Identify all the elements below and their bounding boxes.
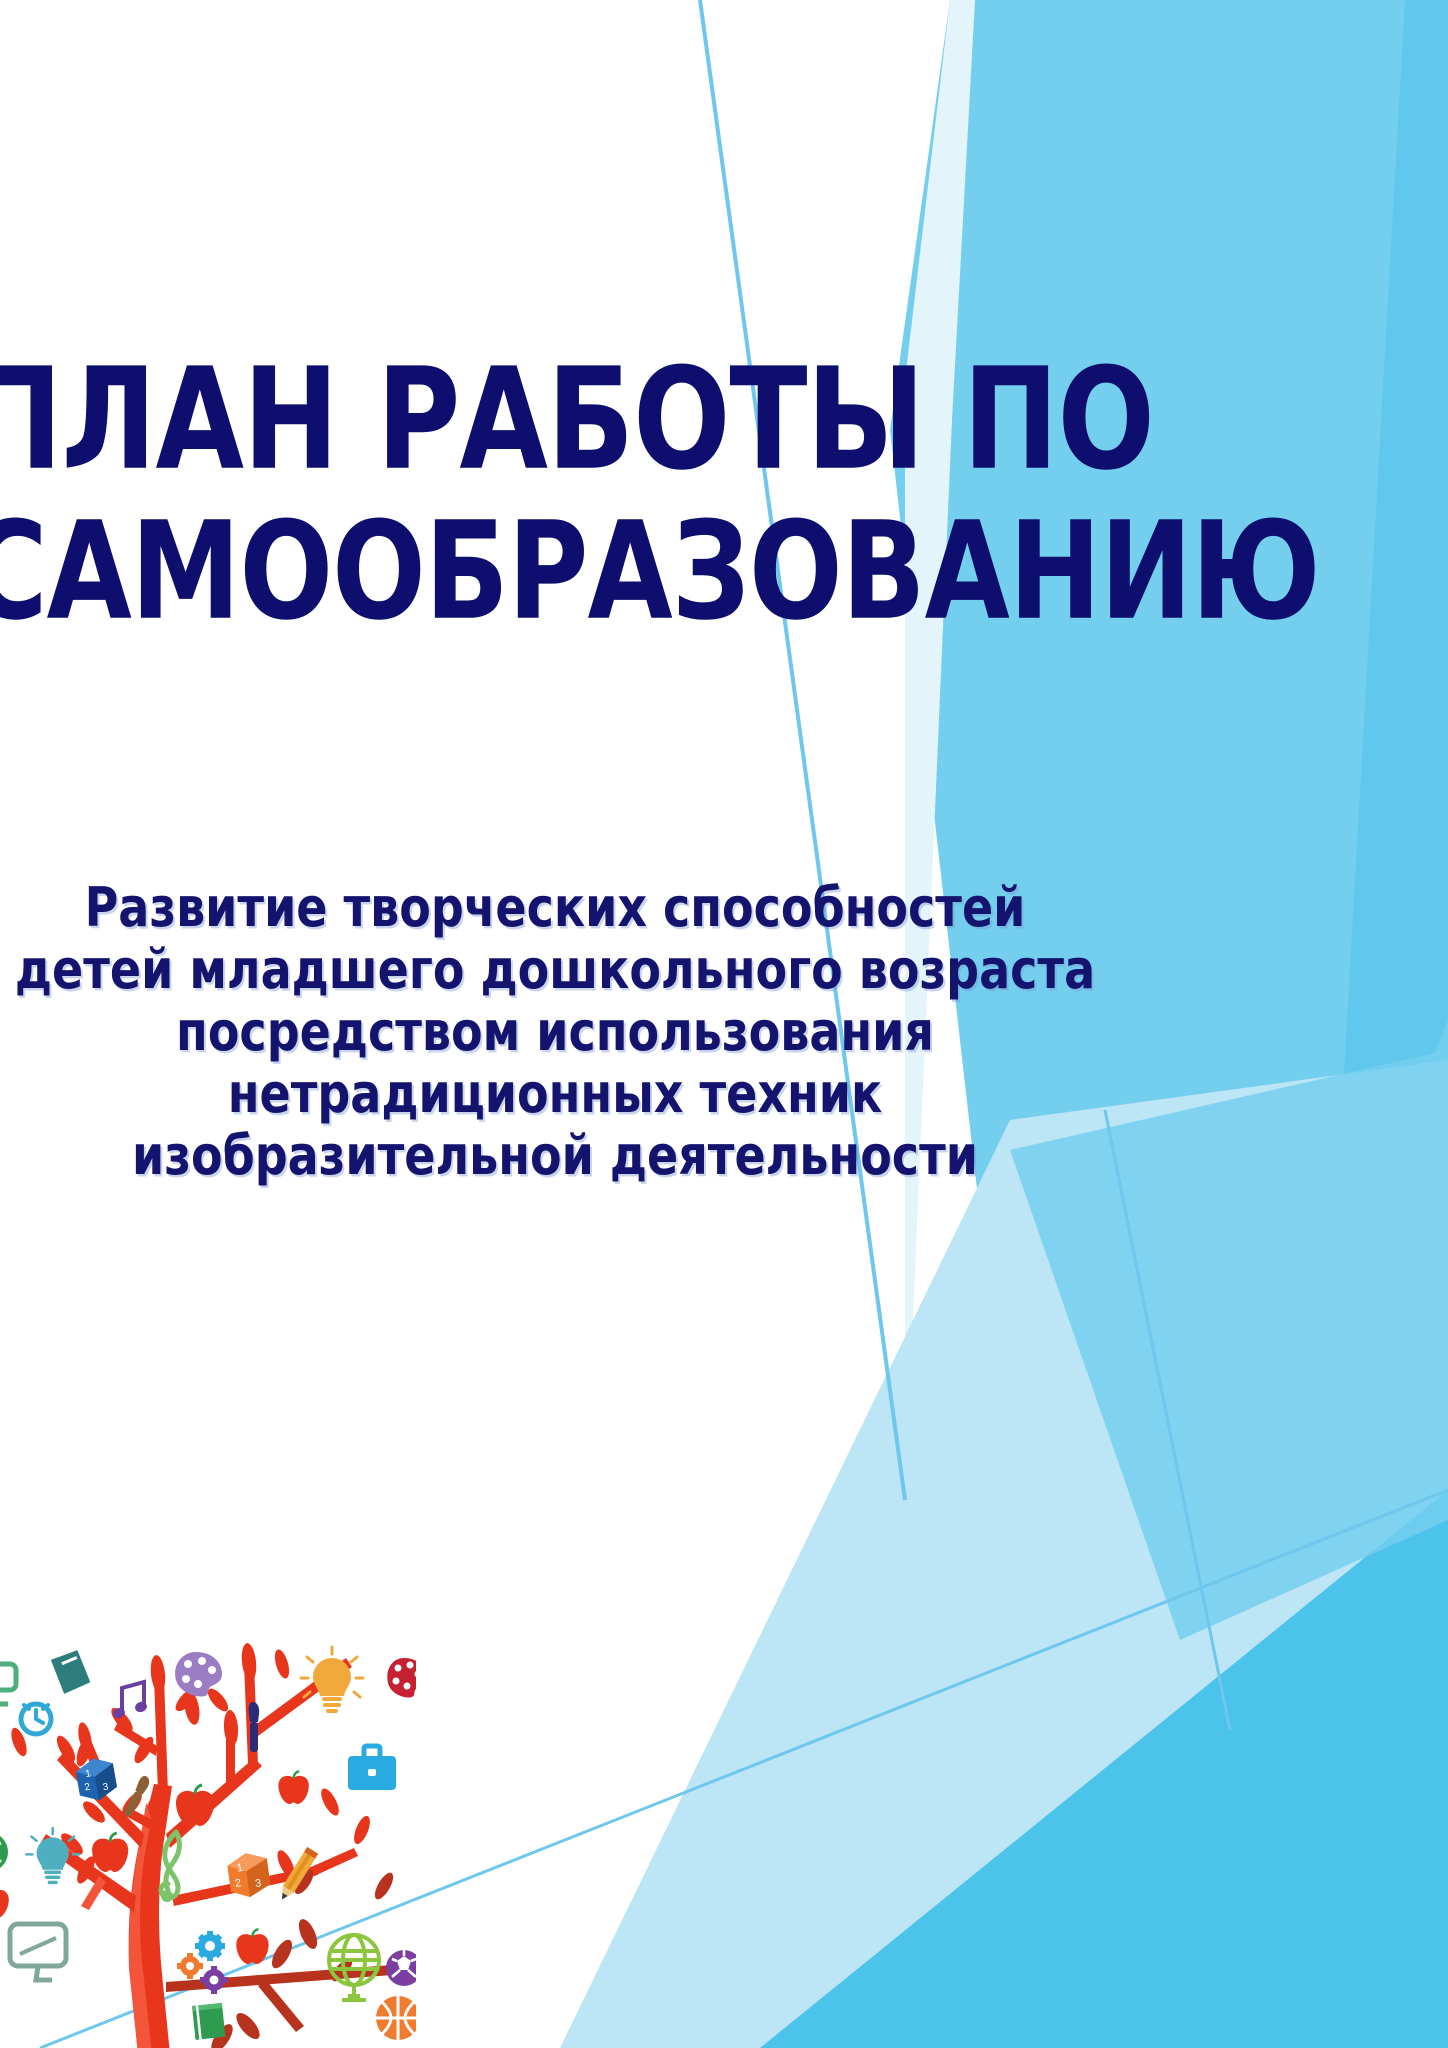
globe-icon xyxy=(329,1935,379,2000)
leaf xyxy=(268,1937,296,1972)
gear-blue xyxy=(195,1931,225,1961)
leaf xyxy=(295,1917,321,1952)
apple-icon xyxy=(236,1929,268,1964)
apple-icon xyxy=(176,1785,214,1826)
soccer-ball-icon xyxy=(386,1950,416,1986)
lightbulb-orange-icon xyxy=(301,1647,363,1713)
leaf xyxy=(272,1648,292,1680)
subtitle-line-3: посредством использования xyxy=(0,1004,1110,1058)
book-icon xyxy=(50,1649,92,1695)
apple-icon xyxy=(0,1885,9,1918)
paint-palette-red-icon xyxy=(387,1658,416,1697)
basketball-icon xyxy=(376,1996,416,2040)
apple-icon xyxy=(92,1833,128,1872)
leaf xyxy=(232,2009,263,2043)
gear-orange xyxy=(177,1953,203,1979)
subtitle-line-1: Развитие творческих способностей xyxy=(0,880,1110,934)
page-title: ПЛАН РАБОТЫ ПО САМООБРАЗОВАНИЮ xyxy=(0,352,1110,608)
thin-diagonal-line-3 xyxy=(1105,1110,1230,1730)
document-page: ПЛАН РАБОТЫ ПО САМООБРАЗОВАНИЮ Развитие … xyxy=(0,0,1448,2048)
treble-clef-icon xyxy=(161,1832,179,1902)
apple-icon xyxy=(278,1771,308,1804)
blue-triangle-bottom-right xyxy=(760,1490,1448,2048)
monitor-icon xyxy=(0,1664,16,1704)
leaf xyxy=(371,1870,396,1902)
gear-purple xyxy=(200,1966,228,1994)
subtitle-line-5: изобразительной деятельности xyxy=(0,1128,1110,1182)
leaf xyxy=(240,1642,258,1681)
leaf xyxy=(351,1814,373,1846)
leaf xyxy=(223,1710,239,1747)
tv-icon xyxy=(10,1924,66,1980)
thin-diagonal-line-1 xyxy=(700,0,905,1500)
leaf xyxy=(318,1786,343,1818)
paintbrush-navy-icon xyxy=(249,1702,260,1752)
blue-sliver-right xyxy=(1330,0,1448,1320)
title-line-1: ПЛАН РАБОТЫ ПО xyxy=(0,352,1143,490)
page-subtitle: Развитие творческих способностей детей м… xyxy=(0,880,1110,1190)
music-note-icon xyxy=(112,1682,149,1720)
soccer-ball-green-icon xyxy=(0,1832,8,1872)
blue-pale-wedge-lower xyxy=(560,1060,1448,2048)
branch-bottom-right-dark2 xyxy=(258,1980,304,2032)
knowledge-tree-illustration: 1 2 3 xyxy=(0,1634,416,2048)
blue-pale-wedge-upper xyxy=(905,0,975,1500)
alarm-clock-icon xyxy=(21,1704,51,1734)
title-line-2: САМООБРАЗОВАНИЮ xyxy=(0,506,1143,638)
subtitle-line-2: детей младшего дошкольного возраста xyxy=(0,942,1110,996)
book-icon xyxy=(192,2003,225,2040)
branch-center-vertical xyxy=(154,1676,168,1794)
blue-wedge-main xyxy=(890,0,1448,1560)
briefcase-icon xyxy=(348,1746,396,1790)
subtitle-line-4: нетрадиционных техник xyxy=(0,1066,1110,1120)
